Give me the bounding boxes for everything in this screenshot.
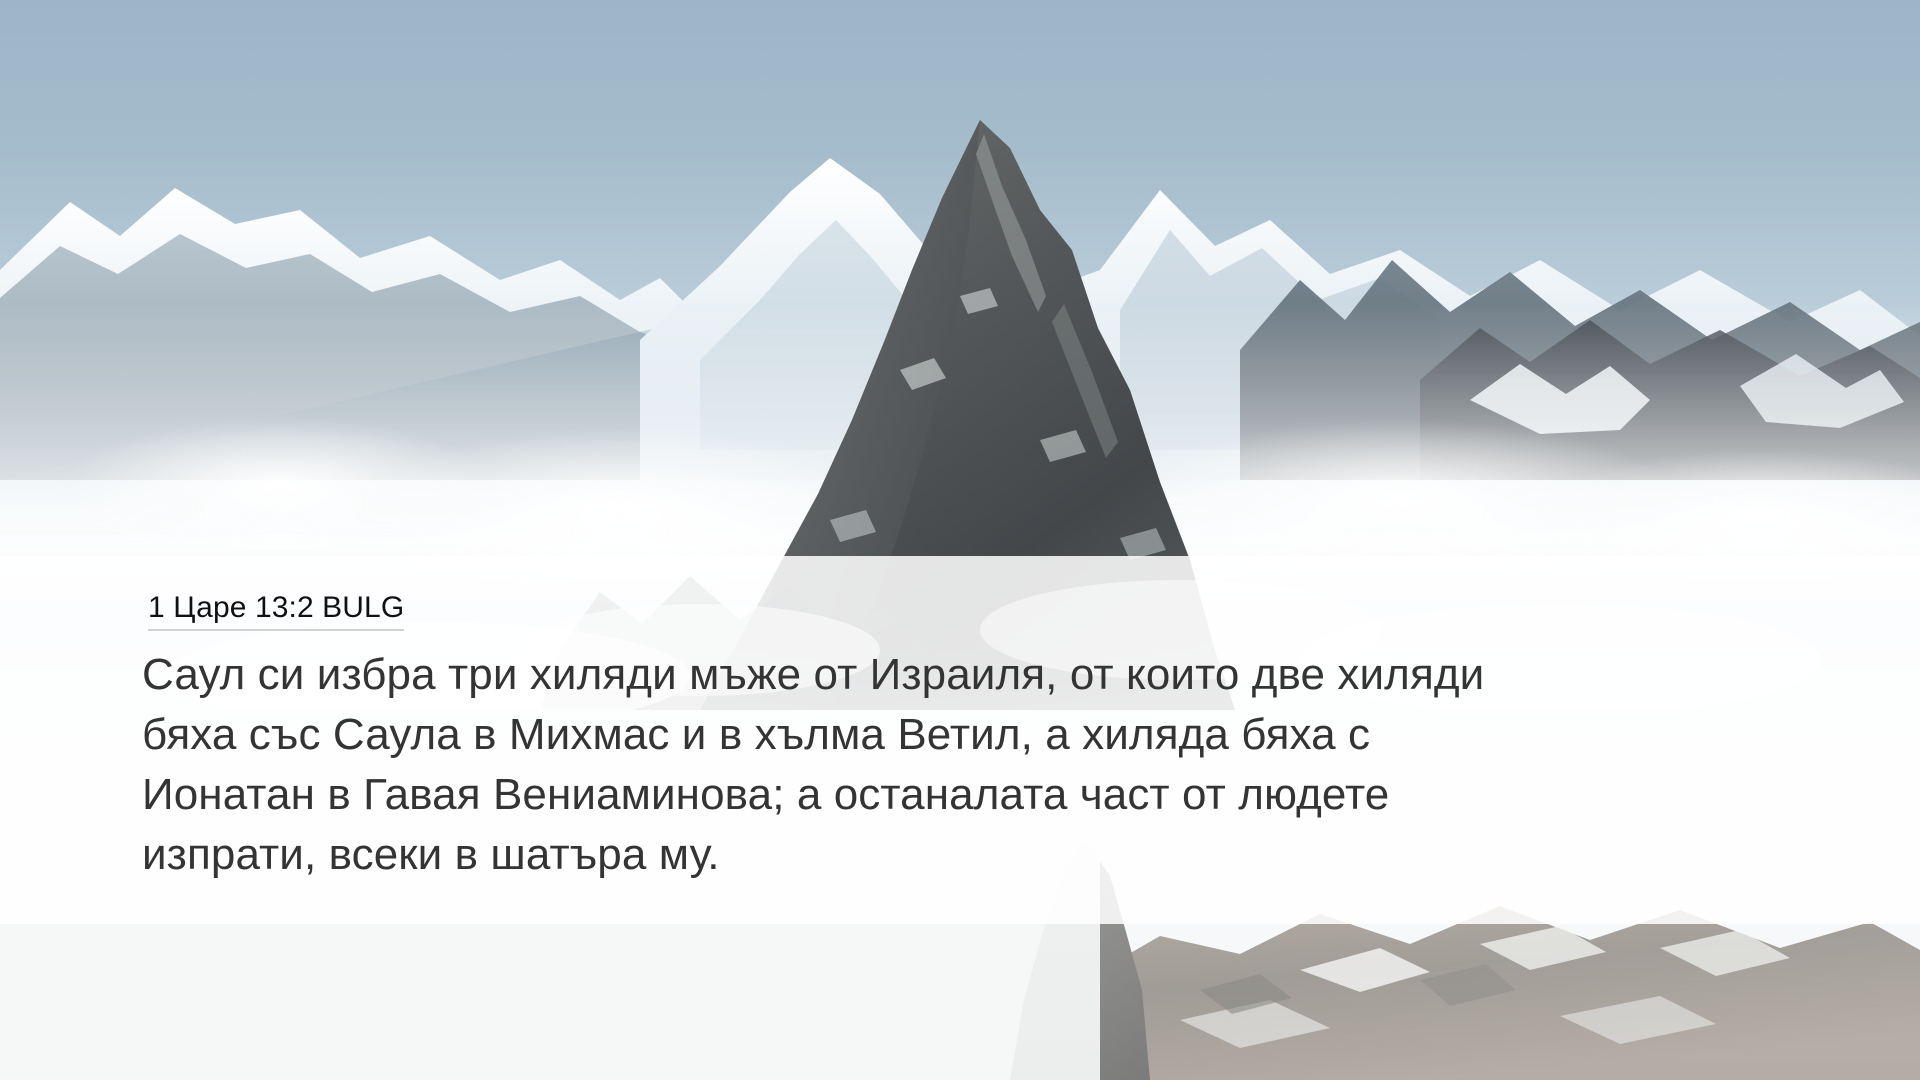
- verse-reference: 1 Царе 13:2 BULG: [148, 590, 404, 631]
- bible-verse-image-card: 1 Царе 13:2 BULG Саул си избра три хиляд…: [0, 0, 1920, 1080]
- verse-reference-wrap: 1 Царе 13:2 BULG: [148, 590, 404, 631]
- verse-body: Саул си избра три хиляди мъже от Израиля…: [142, 645, 1802, 885]
- verse-line: Ионатан в Гавая Вениаминова; а останалат…: [142, 765, 1802, 825]
- verse-line: изпрати, всеки в шатъра му.: [142, 825, 1802, 885]
- verse-text-overlay: 1 Царе 13:2 BULG Саул си избра три хиляд…: [0, 556, 1920, 924]
- verse-line: бяха със Саула в Михмас и в хълма Ветил,…: [142, 705, 1802, 765]
- verse-line: Саул си избра три хиляди мъже от Израиля…: [142, 645, 1802, 705]
